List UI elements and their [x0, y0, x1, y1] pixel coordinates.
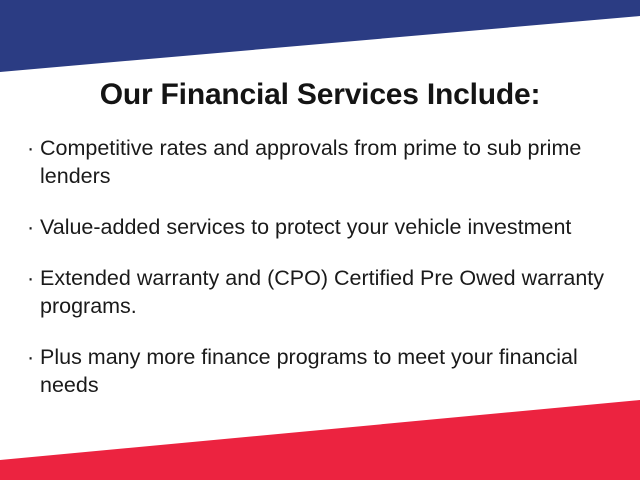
list-item-label: Extended warranty and (CPO) Certified Pr…	[40, 264, 622, 320]
top-diagonal-banner	[0, 0, 640, 80]
list-item-label: Competitive rates and approvals from pri…	[40, 134, 622, 190]
list-item: · Value-added services to protect your v…	[26, 213, 622, 241]
list-item-label: Value-added services to protect your veh…	[40, 213, 622, 241]
list-item: · Plus many more finance programs to mee…	[26, 343, 622, 399]
page-title: Our Financial Services Include:	[0, 78, 640, 112]
slide-canvas: Our Financial Services Include: · Compet…	[0, 0, 640, 480]
bullet-dot-icon: ·	[27, 343, 34, 371]
bullet-dot-icon: ·	[27, 213, 34, 241]
list-item: · Competitive rates and approvals from p…	[26, 134, 622, 190]
services-bullet-list: · Competitive rates and approvals from p…	[26, 134, 622, 399]
bottom-diagonal-banner	[0, 390, 640, 480]
bullet-dot-icon: ·	[27, 264, 34, 292]
list-item: · Extended warranty and (CPO) Certified …	[26, 264, 622, 320]
bullet-dot-icon: ·	[27, 134, 34, 162]
list-item-label: Plus many more finance programs to meet …	[40, 343, 622, 399]
